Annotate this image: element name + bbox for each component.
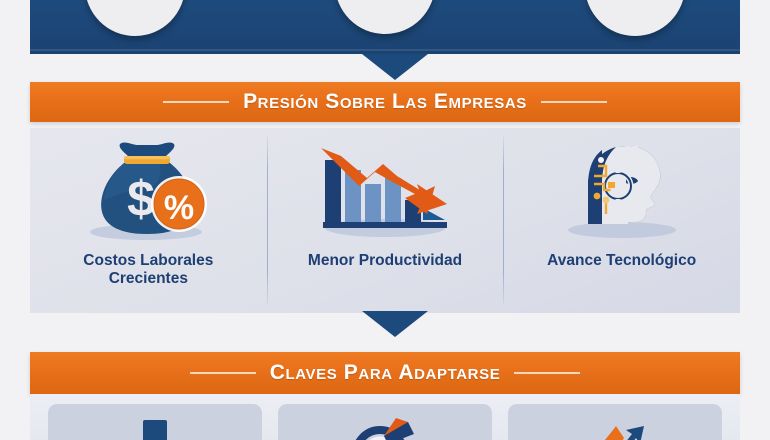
target-dart-icon <box>340 414 430 440</box>
banner-rule-left <box>190 372 256 374</box>
money-bag-percent-icon: $ % <box>68 138 228 246</box>
pressure-card-label: Costos Laborales Crecientes <box>83 252 213 288</box>
infographic-page: Presión Sobre las Empresas $ <box>0 0 770 440</box>
pressure-card-label: Menor Productividad <box>308 252 462 270</box>
banner-rule-left <box>163 101 229 103</box>
banner-title: Presión Sobre las Empresas <box>243 90 527 114</box>
svg-text:$: $ <box>127 171 155 227</box>
pressure-cards-panel: $ % Costos Laborales Crecientes <box>30 128 740 313</box>
banner-claves-para-adaptarse: Claves para Adaptarse <box>30 352 740 394</box>
adapt-cards-panel <box>30 394 740 440</box>
adapt-card-3[interactable] <box>508 404 722 440</box>
pressure-card-menor-productividad[interactable]: Menor Productividad <box>267 128 504 313</box>
document-block-icon <box>110 414 200 440</box>
banner-rule-right <box>541 101 607 103</box>
pressure-card-avance-tecnologico[interactable]: Avance Tecnológico <box>503 128 740 313</box>
pressure-cards-row: $ % Costos Laborales Crecientes <box>30 128 740 313</box>
banner-title: Claves para Adaptarse <box>270 361 501 385</box>
ai-head-circuit-icon <box>542 138 702 246</box>
growth-arrows-icon <box>570 414 660 440</box>
connector-arrow-top <box>362 54 428 80</box>
banner-rule-right <box>514 372 580 374</box>
adapt-card-1[interactable] <box>48 404 262 440</box>
declining-bar-chart-icon <box>305 138 465 246</box>
adapt-card-2[interactable] <box>278 404 492 440</box>
connector-arrow-middle <box>362 311 428 337</box>
svg-text:%: % <box>164 189 194 227</box>
pressure-card-costos-laborales[interactable]: $ % Costos Laborales Crecientes <box>30 128 267 313</box>
pressure-card-label: Avance Tecnológico <box>547 252 696 270</box>
banner-presion-sobre-las-empresas: Presión Sobre las Empresas <box>30 82 740 122</box>
top-panel-divider <box>30 49 740 51</box>
